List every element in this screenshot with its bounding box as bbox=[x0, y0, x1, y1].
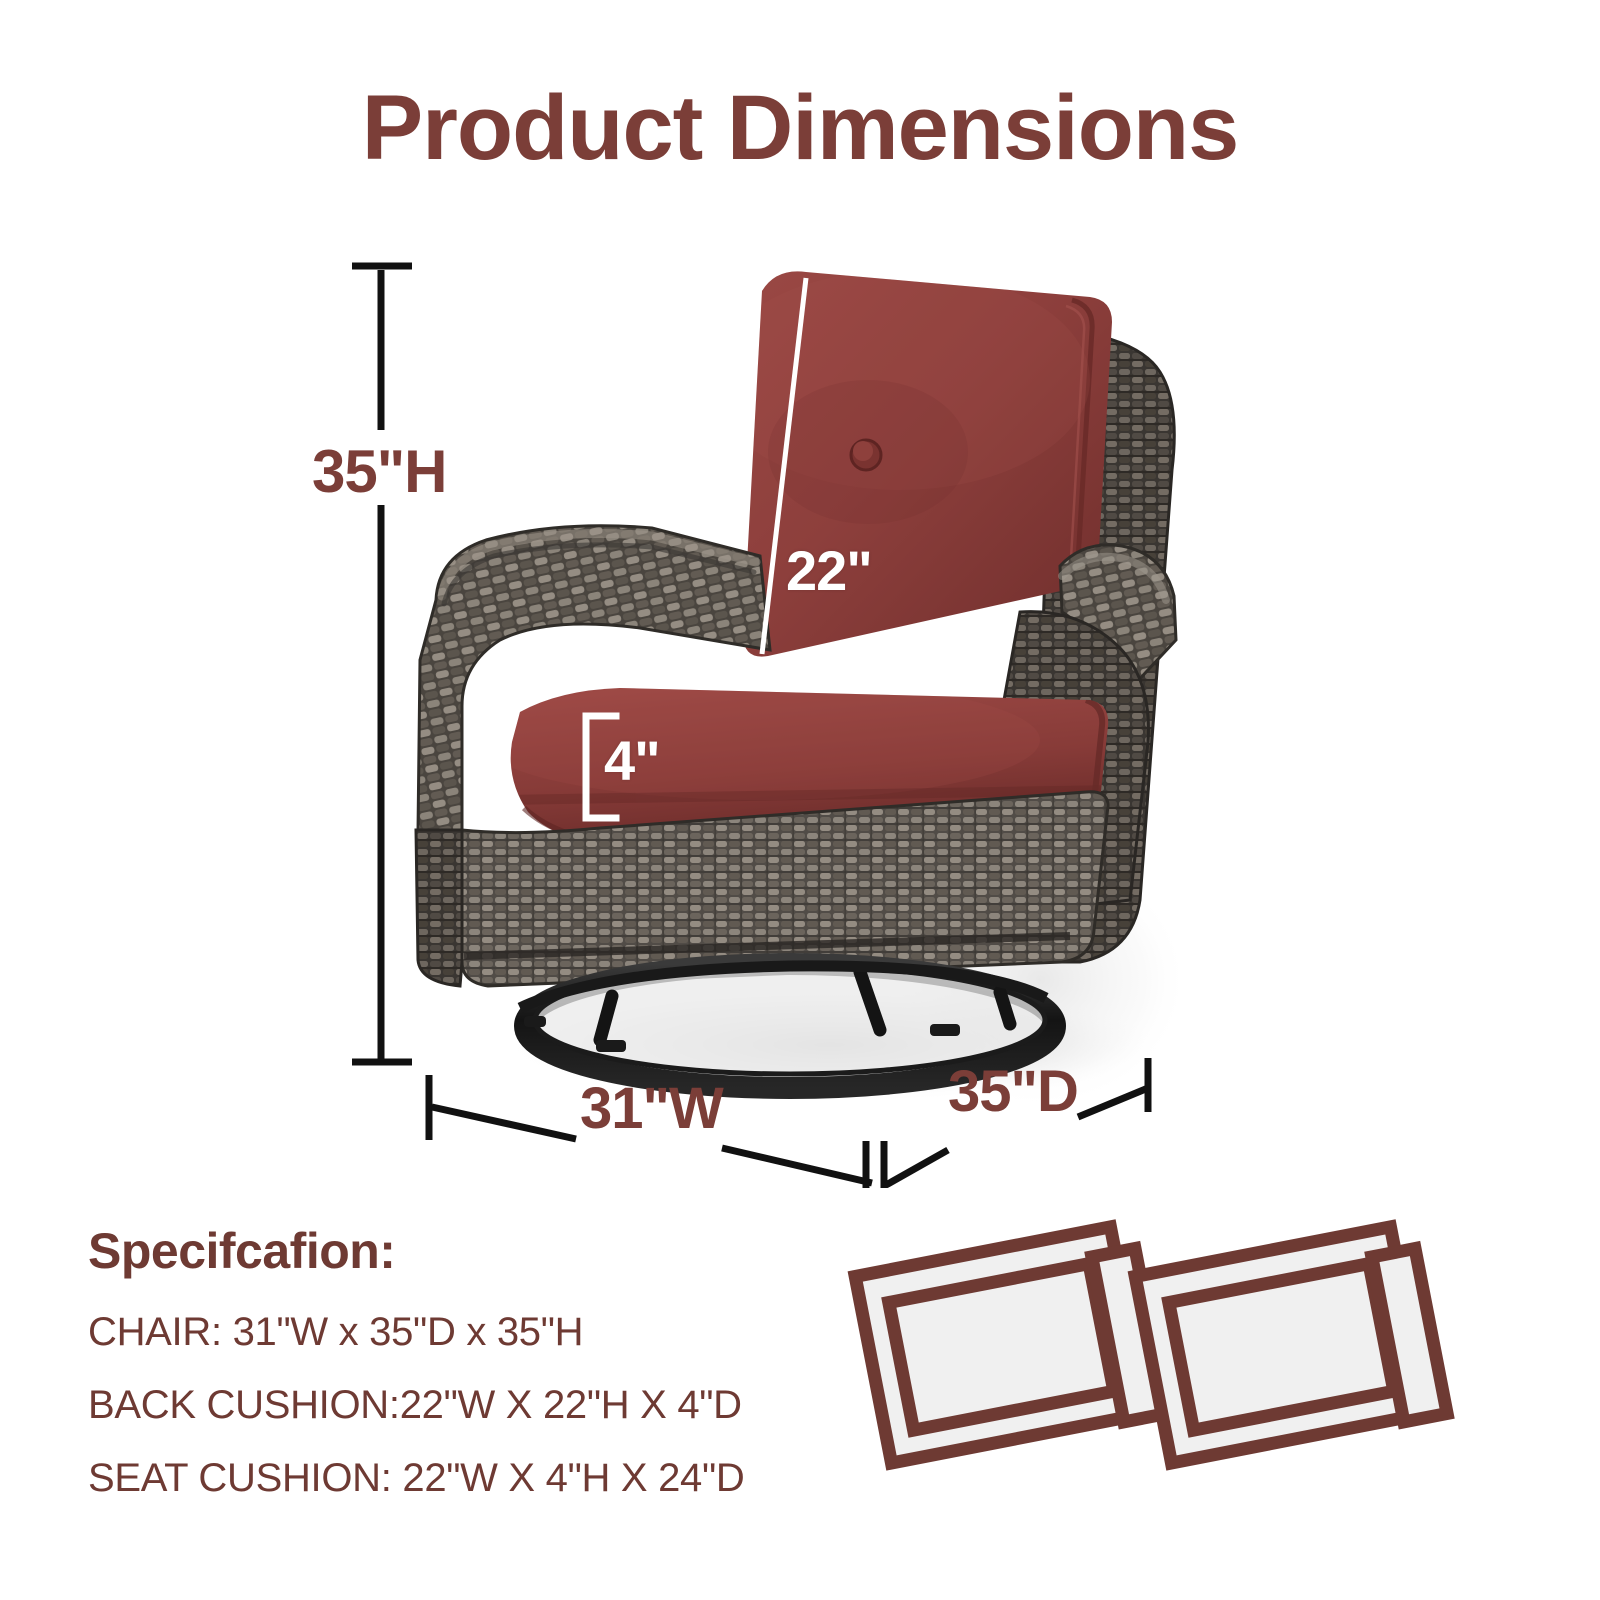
specification-heading: Specifcafion: bbox=[88, 1222, 848, 1280]
height-label: 35"H bbox=[312, 437, 447, 506]
product-illustration: 35"H 31"W 35"D 22" 4" bbox=[0, 0, 1600, 1200]
seat-cushion-thickness-label: 4" bbox=[604, 728, 660, 793]
specification-block: Specifcafion: CHAIR: 31"W x 35"D x 35"H … bbox=[88, 1222, 848, 1529]
spec-line-seat-cushion: SEAT CUSHION: 22"W X 4"H X 24"D bbox=[88, 1456, 848, 1501]
cushion-icons-group bbox=[840, 1200, 1460, 1520]
cushion-outline-icon bbox=[855, 1223, 1167, 1467]
width-label: 31"W bbox=[580, 1075, 723, 1142]
spec-line-back-cushion: BACK CUSHION:22"W X 22"H X 4"D bbox=[88, 1383, 848, 1428]
spec-line-chair: CHAIR: 31"W x 35"D x 35"H bbox=[88, 1310, 848, 1355]
infographic-root: Product Dimensions bbox=[0, 0, 1600, 1600]
depth-label: 35"D bbox=[948, 1058, 1078, 1125]
cushion-outline-icon bbox=[1135, 1223, 1447, 1467]
back-cushion-height-label: 22" bbox=[786, 538, 872, 603]
